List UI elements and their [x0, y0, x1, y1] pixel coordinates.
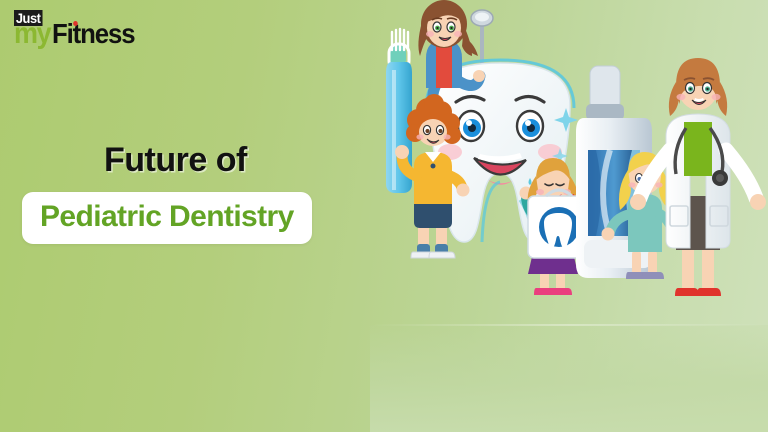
headline-line-1: Future of [104, 140, 352, 180]
promo-banner: Just myFitness Future of Pediatric Denti… [0, 0, 768, 432]
floor-reflection [370, 325, 768, 432]
logo-fitness-text: Fitness [52, 19, 134, 49]
floor-line [370, 324, 768, 326]
headline-highlight-box: Pediatric Dentistry [22, 192, 312, 244]
headline-group: Future of Pediatric Dentistry [22, 140, 352, 244]
headline-line-2: Pediatric Dentistry [40, 201, 294, 233]
logo-wordmark: myFitness [14, 19, 142, 49]
logo-my-text: my [14, 19, 50, 49]
logo-fitness-label: Fitness [52, 18, 134, 49]
justmyfitness-logo[interactable]: Just myFitness [14, 10, 164, 54]
